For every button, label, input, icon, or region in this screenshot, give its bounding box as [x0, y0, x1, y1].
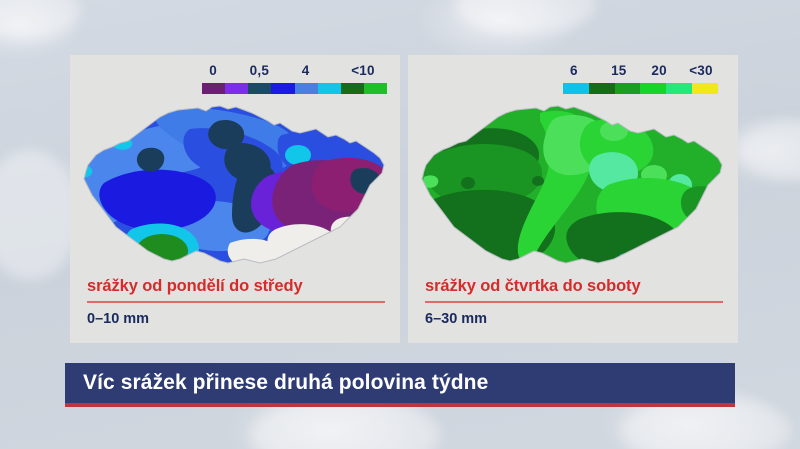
legend-right-label-1: 15 [611, 63, 626, 78]
legend-right-segment-1 [589, 83, 615, 94]
legend-left-segment-4 [295, 83, 318, 94]
weather-graphic-stage: 0 0,5 4 <10 [0, 0, 800, 449]
legend-left-segment-7 [364, 83, 387, 94]
legend-left-segment-3 [271, 83, 294, 94]
legend-right: 6 15 20 <30 [563, 63, 718, 97]
caption-right: srážky od čtvrtka do soboty 6–30 mm [425, 277, 723, 327]
map-czech-republic-mon-wed [70, 103, 400, 285]
legend-left-label-2: 4 [302, 63, 310, 78]
legend-right-segment-3 [640, 83, 666, 94]
legend-right-segment-5 [692, 83, 718, 94]
legend-right-label-3: <30 [689, 63, 713, 78]
legend-right-label-0: 6 [570, 63, 578, 78]
legend-left-segment-5 [318, 83, 341, 94]
legend-left-colorbar [202, 83, 387, 94]
map-right-wrapper [408, 103, 738, 285]
legend-right-segment-4 [666, 83, 692, 94]
precipitation-panel-thursday-saturday: 6 15 20 <30 [408, 55, 738, 343]
legend-right-segment-2 [615, 83, 641, 94]
legend-right-label-2: 20 [651, 63, 666, 78]
cloud-decoration [0, 0, 80, 40]
caption-left-title: srážky od pondělí do středy [87, 277, 385, 296]
cloud-decoration [455, 0, 595, 35]
headline-banner: Víc srážek přinese druhá polovina týdne [65, 363, 735, 407]
map-left-wrapper [70, 103, 400, 285]
legend-left-segment-2 [248, 83, 271, 94]
cloud-decoration [0, 150, 80, 280]
headline-text: Víc srážek přinese druhá polovina týdne [83, 371, 488, 395]
caption-left: srážky od pondělí do středy 0–10 mm [87, 277, 385, 327]
legend-right-colorbar [563, 83, 718, 94]
legend-left-label-0: 0 [209, 63, 217, 78]
legend-left-label-1: 0,5 [250, 63, 269, 78]
legend-left-segment-1 [225, 83, 248, 94]
legend-left-label-3: <10 [351, 63, 375, 78]
legend-right-segment-0 [563, 83, 589, 94]
map-czech-republic-thu-sat [408, 103, 738, 285]
legend-left-segment-0 [202, 83, 225, 94]
caption-right-rule [425, 301, 723, 303]
cloud-decoration [735, 120, 800, 180]
legend-right-labels: 6 15 20 <30 [563, 63, 718, 81]
precipitation-panel-monday-wednesday: 0 0,5 4 <10 [70, 55, 400, 343]
caption-right-title: srážky od čtvrtka do soboty [425, 277, 723, 296]
legend-left-segment-6 [341, 83, 364, 94]
caption-left-rule [87, 301, 385, 303]
caption-right-range: 6–30 mm [425, 311, 723, 327]
legend-left: 0 0,5 4 <10 [202, 63, 387, 97]
caption-left-range: 0–10 mm [87, 311, 385, 327]
legend-left-labels: 0 0,5 4 <10 [202, 63, 387, 81]
